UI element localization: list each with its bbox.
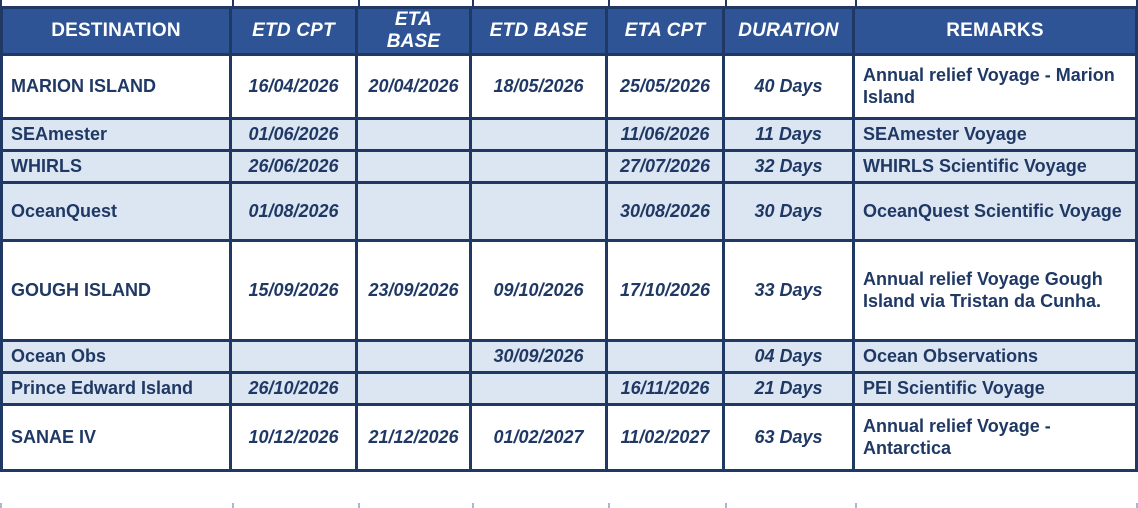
- cell-eta-base[interactable]: 21/12/2026: [358, 406, 472, 472]
- column-header-etd-base[interactable]: ETD BASE: [472, 6, 608, 56]
- table-row[interactable]: SEAmester 01/06/2026 11/06/2026 11 Days …: [0, 120, 1138, 152]
- cell-etd-base[interactable]: 09/10/2026: [472, 242, 608, 342]
- cell-duration[interactable]: 33 Days: [725, 242, 855, 342]
- cell-duration[interactable]: 11 Days: [725, 120, 855, 152]
- cell-remarks[interactable]: WHIRLS Scientific Voyage: [855, 152, 1138, 184]
- table-row[interactable]: GOUGH ISLAND 15/09/2026 23/09/2026 09/10…: [0, 242, 1138, 342]
- cell-remarks[interactable]: SEAmester Voyage: [855, 120, 1138, 152]
- cell-destination[interactable]: SANAE IV: [0, 406, 232, 472]
- cell-destination[interactable]: OceanQuest: [0, 184, 232, 242]
- cell-etd-base[interactable]: [472, 120, 608, 152]
- cell-eta-cpt[interactable]: 16/11/2026: [608, 374, 725, 406]
- cell-etd-base[interactable]: [472, 152, 608, 184]
- table-body: MARION ISLAND 16/04/2026 20/04/2026 18/0…: [0, 56, 1138, 472]
- cell-eta-cpt[interactable]: [608, 342, 725, 374]
- cell-remarks[interactable]: Annual relief Voyage - Marion Island: [855, 56, 1138, 120]
- cell-etd-base[interactable]: [472, 184, 608, 242]
- cell-remarks[interactable]: PEI Scientific Voyage: [855, 374, 1138, 406]
- voyage-schedule-table: DESTINATION ETD CPT ETA BASE ETD BASE ET…: [0, 6, 1138, 472]
- cell-destination[interactable]: GOUGH ISLAND: [0, 242, 232, 342]
- cell-eta-base[interactable]: [358, 184, 472, 242]
- table-row[interactable]: MARION ISLAND 16/04/2026 20/04/2026 18/0…: [0, 56, 1138, 120]
- cell-destination[interactable]: MARION ISLAND: [0, 56, 232, 120]
- cell-duration[interactable]: 40 Days: [725, 56, 855, 120]
- cell-duration[interactable]: 04 Days: [725, 342, 855, 374]
- cell-destination[interactable]: Ocean Obs: [0, 342, 232, 374]
- cell-eta-cpt[interactable]: 17/10/2026: [608, 242, 725, 342]
- cell-remarks[interactable]: Ocean Observations: [855, 342, 1138, 374]
- cell-duration[interactable]: 63 Days: [725, 406, 855, 472]
- column-header-etd-cpt[interactable]: ETD CPT: [232, 6, 358, 56]
- cell-eta-cpt[interactable]: 11/02/2027: [608, 406, 725, 472]
- table-row[interactable]: Prince Edward Island 26/10/2026 16/11/20…: [0, 374, 1138, 406]
- cell-remarks[interactable]: Annual relief Voyage - Antarctica: [855, 406, 1138, 472]
- voyage-schedule-sheet: DESTINATION ETD CPT ETA BASE ETD BASE ET…: [0, 0, 1138, 508]
- cell-etd-base[interactable]: 01/02/2027: [472, 406, 608, 472]
- cell-eta-base[interactable]: [358, 152, 472, 184]
- column-header-eta-base[interactable]: ETA BASE: [358, 6, 472, 56]
- cell-eta-cpt[interactable]: 30/08/2026: [608, 184, 725, 242]
- cell-eta-base[interactable]: [358, 120, 472, 152]
- cell-eta-cpt[interactable]: 25/05/2026: [608, 56, 725, 120]
- bottom-partial-row: [0, 503, 1138, 508]
- cell-eta-base[interactable]: [358, 374, 472, 406]
- cell-remarks[interactable]: OceanQuest Scientific Voyage: [855, 184, 1138, 242]
- cell-destination[interactable]: Prince Edward Island: [0, 374, 232, 406]
- cell-etd-cpt[interactable]: 15/09/2026: [232, 242, 358, 342]
- table-header: DESTINATION ETD CPT ETA BASE ETD BASE ET…: [0, 6, 1138, 56]
- cell-etd-base[interactable]: 30/09/2026: [472, 342, 608, 374]
- cell-destination[interactable]: SEAmester: [0, 120, 232, 152]
- cell-etd-cpt[interactable]: 01/08/2026: [232, 184, 358, 242]
- cell-eta-base[interactable]: [358, 342, 472, 374]
- cell-eta-cpt[interactable]: 27/07/2026: [608, 152, 725, 184]
- cell-remarks[interactable]: Annual relief Voyage Gough Island via Tr…: [855, 242, 1138, 342]
- cell-destination[interactable]: WHIRLS: [0, 152, 232, 184]
- table-row[interactable]: OceanQuest 01/08/2026 30/08/2026 30 Days…: [0, 184, 1138, 242]
- cell-etd-base[interactable]: [472, 374, 608, 406]
- cell-eta-base[interactable]: 20/04/2026: [358, 56, 472, 120]
- cell-etd-cpt[interactable]: 26/10/2026: [232, 374, 358, 406]
- cell-etd-cpt[interactable]: [232, 342, 358, 374]
- column-header-remarks[interactable]: REMARKS: [855, 6, 1138, 56]
- cell-etd-cpt[interactable]: 16/04/2026: [232, 56, 358, 120]
- cell-etd-cpt[interactable]: 10/12/2026: [232, 406, 358, 472]
- cell-eta-base[interactable]: 23/09/2026: [358, 242, 472, 342]
- column-header-destination[interactable]: DESTINATION: [0, 6, 232, 56]
- table-row[interactable]: Ocean Obs 30/09/2026 04 Days Ocean Obser…: [0, 342, 1138, 374]
- table-row[interactable]: SANAE IV 10/12/2026 21/12/2026 01/02/202…: [0, 406, 1138, 472]
- cell-etd-base[interactable]: 18/05/2026: [472, 56, 608, 120]
- cell-duration[interactable]: 32 Days: [725, 152, 855, 184]
- cell-duration[interactable]: 30 Days: [725, 184, 855, 242]
- cell-eta-cpt[interactable]: 11/06/2026: [608, 120, 725, 152]
- column-header-duration[interactable]: DURATION: [725, 6, 855, 56]
- column-header-eta-cpt[interactable]: ETA CPT: [608, 6, 725, 56]
- header-row: DESTINATION ETD CPT ETA BASE ETD BASE ET…: [0, 6, 1138, 56]
- cell-etd-cpt[interactable]: 26/06/2026: [232, 152, 358, 184]
- cell-duration[interactable]: 21 Days: [725, 374, 855, 406]
- cell-etd-cpt[interactable]: 01/06/2026: [232, 120, 358, 152]
- table-row[interactable]: WHIRLS 26/06/2026 27/07/2026 32 Days WHI…: [0, 152, 1138, 184]
